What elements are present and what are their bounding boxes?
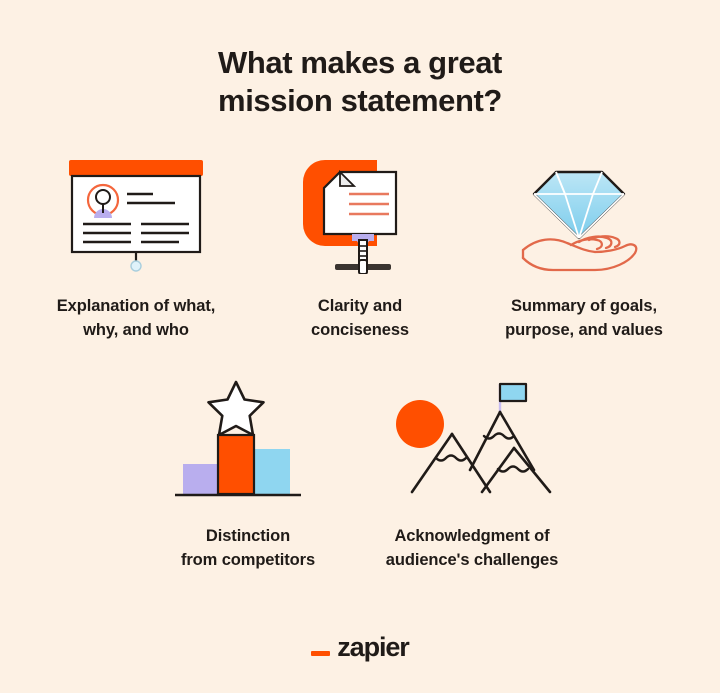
page-title: What makes a great mission statement?	[100, 44, 620, 120]
title-line-2: mission statement?	[100, 82, 620, 120]
presentation-board-icon	[51, 154, 221, 274]
feature-card-summary: Summary of goals, purpose, and values	[472, 154, 696, 342]
feature-row-top: Explanation of what, why, and who	[10, 154, 710, 342]
feature-caption: Acknowledgment of audience's challenges	[386, 524, 558, 572]
zapier-wordmark: zapier	[337, 632, 408, 663]
diamond-in-hand-icon	[509, 154, 659, 274]
caption-line-2: conciseness	[311, 318, 409, 342]
caption-line-2: audience's challenges	[386, 548, 558, 572]
caption-line-1: Summary of goals,	[505, 294, 663, 318]
feature-caption: Explanation of what, why, and who	[57, 294, 215, 342]
title-line-1: What makes a great	[100, 44, 620, 82]
feature-card-distinction: Distinction from competitors	[136, 376, 360, 572]
caption-line-1: Distinction	[181, 524, 315, 548]
feature-card-clarity: Clarity and conciseness	[248, 154, 472, 342]
bar-chart-star-icon	[173, 376, 323, 504]
clamp-document-icon	[295, 154, 425, 274]
feature-caption: Summary of goals, purpose, and values	[505, 294, 663, 342]
caption-line-2: purpose, and values	[505, 318, 663, 342]
feature-caption: Distinction from competitors	[181, 524, 315, 572]
feature-card-acknowledgment: Acknowledgment of audience's challenges	[360, 376, 584, 572]
feature-card-explanation: Explanation of what, why, and who	[24, 154, 248, 342]
caption-line-1: Explanation of what,	[57, 294, 215, 318]
feature-caption: Clarity and conciseness	[311, 294, 409, 342]
caption-line-1: Clarity and	[311, 294, 409, 318]
zapier-logo: zapier	[0, 632, 720, 663]
mountains-flag-icon	[382, 376, 562, 504]
caption-line-2: from competitors	[181, 548, 315, 572]
infographic-canvas: What makes a great mission statement?	[0, 0, 720, 693]
zapier-dash-mark-icon	[311, 651, 330, 656]
feature-row-bottom: Distinction from competitors	[10, 376, 710, 572]
caption-line-1: Acknowledgment of	[386, 524, 558, 548]
caption-line-2: why, and who	[57, 318, 215, 342]
